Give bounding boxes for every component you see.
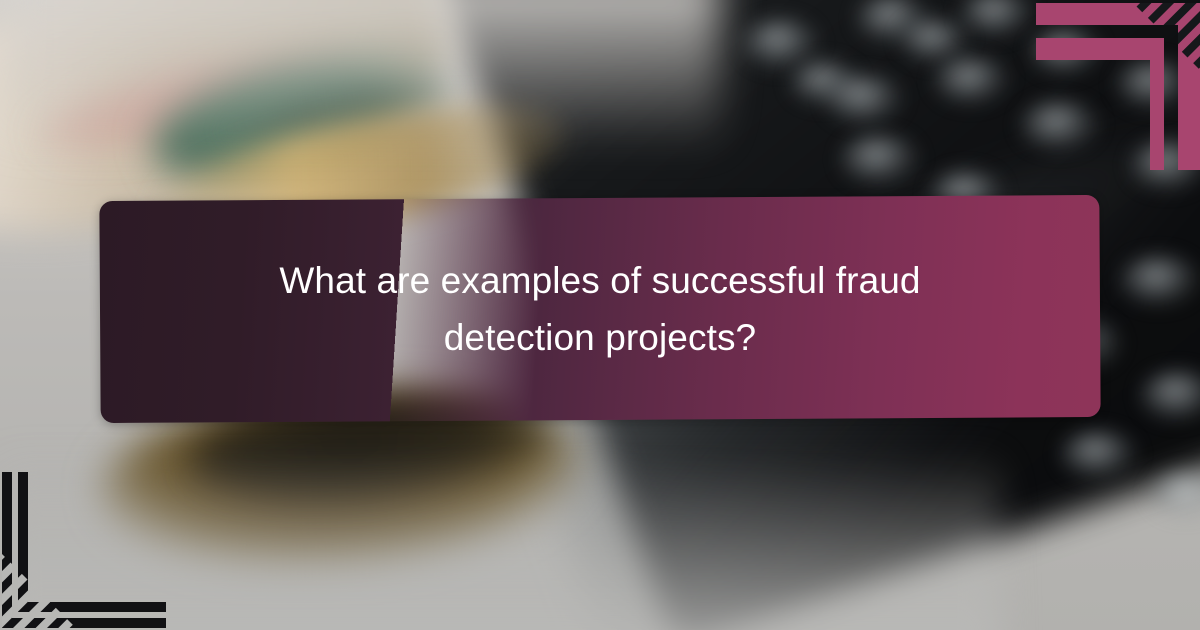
calculator-key	[1020, 100, 1100, 152]
promo-card: What are examples of successful fraud de…	[0, 0, 1200, 630]
calculator-key	[826, 74, 904, 126]
calculator-key	[934, 56, 1010, 106]
background-haze-top	[0, 0, 720, 150]
calculator-key	[1060, 430, 1138, 480]
calculator-key	[840, 134, 920, 186]
question-banner: What are examples of successful fraud de…	[99, 195, 1100, 423]
calculator-key	[1116, 60, 1192, 110]
calculator-key	[1030, 28, 1102, 76]
calculator-key	[1130, 140, 1200, 192]
calculator-key	[1120, 255, 1200, 307]
background-haze-bottom	[0, 450, 1000, 630]
question-text: What are examples of successful fraud de…	[226, 252, 974, 367]
